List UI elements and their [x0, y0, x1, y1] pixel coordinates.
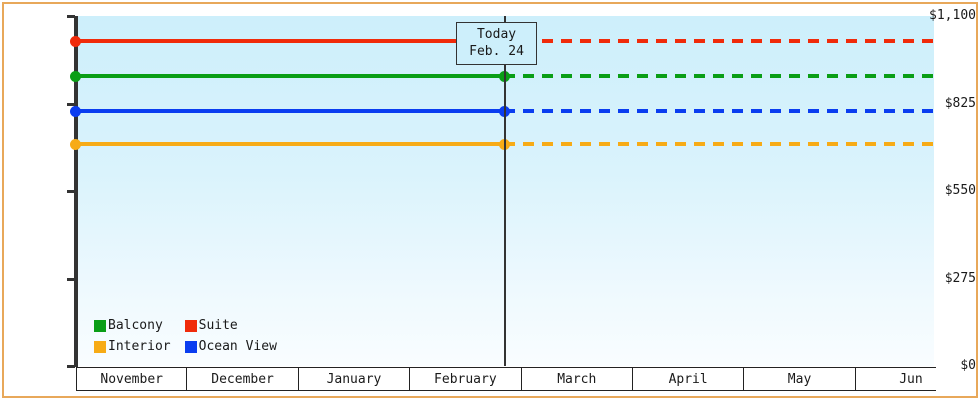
legend-label: Ocean View — [199, 340, 277, 353]
x-axis-month-cell[interactable]: February — [410, 368, 521, 390]
today-callout-box: Today Feb. 24 — [456, 22, 537, 65]
series-line-solid — [76, 74, 504, 78]
series-line-solid — [76, 109, 504, 113]
today-line — [504, 16, 506, 366]
x-axis-month-cell[interactable]: April — [633, 368, 744, 390]
x-axis-month-cell[interactable]: March — [522, 368, 633, 390]
legend-entry[interactable]: Balcony — [94, 315, 171, 336]
y-axis-tick — [67, 190, 75, 193]
y-axis-tick — [67, 15, 75, 18]
series-line-dashed — [504, 39, 934, 43]
series-marker-start — [70, 106, 81, 117]
today-label: Today — [469, 26, 524, 43]
x-axis-month-cell[interactable]: November — [76, 368, 187, 390]
series-line-solid — [76, 142, 504, 146]
y-axis-tick-label: $825 — [914, 97, 976, 110]
chart-frame: $0$275$550$825$1,100 Today Feb. 24 Balco… — [2, 2, 978, 398]
series-marker-start — [70, 139, 81, 150]
x-axis-month-cell[interactable]: Jun — [856, 368, 936, 390]
y-axis-tick — [67, 278, 75, 281]
legend-label: Balcony — [108, 319, 163, 332]
series-line-solid — [76, 39, 504, 43]
legend-entry[interactable]: Interior — [94, 336, 171, 357]
y-axis-tick-label: $275 — [914, 272, 976, 285]
x-axis-month-cell[interactable]: December — [187, 368, 298, 390]
series-marker-start — [70, 71, 81, 82]
legend-label: Interior — [108, 340, 171, 353]
legend-swatch-icon — [94, 341, 106, 353]
legend-entry[interactable]: Suite — [185, 315, 277, 336]
series-marker-start — [70, 36, 81, 47]
x-axis-month-strip: NovemberDecemberJanuaryFebruaryMarchApri… — [76, 367, 936, 391]
legend-entry[interactable]: Ocean View — [185, 336, 277, 357]
today-date: Feb. 24 — [469, 43, 524, 60]
legend-label: Suite — [199, 319, 238, 332]
x-axis-month-cell[interactable]: January — [299, 368, 410, 390]
y-axis-tick-label: $1,100 — [914, 9, 976, 22]
legend-swatch-icon — [94, 320, 106, 332]
series-line-dashed — [504, 142, 934, 146]
series-line-dashed — [504, 74, 934, 78]
y-axis-tick-label: $550 — [914, 184, 976, 197]
chart-legend: BalconySuiteInteriorOcean View — [94, 315, 277, 357]
series-line-dashed — [504, 109, 934, 113]
legend-swatch-icon — [185, 320, 197, 332]
x-axis-month-cell[interactable]: May — [744, 368, 855, 390]
legend-swatch-icon — [185, 341, 197, 353]
y-axis-tick — [67, 365, 75, 368]
